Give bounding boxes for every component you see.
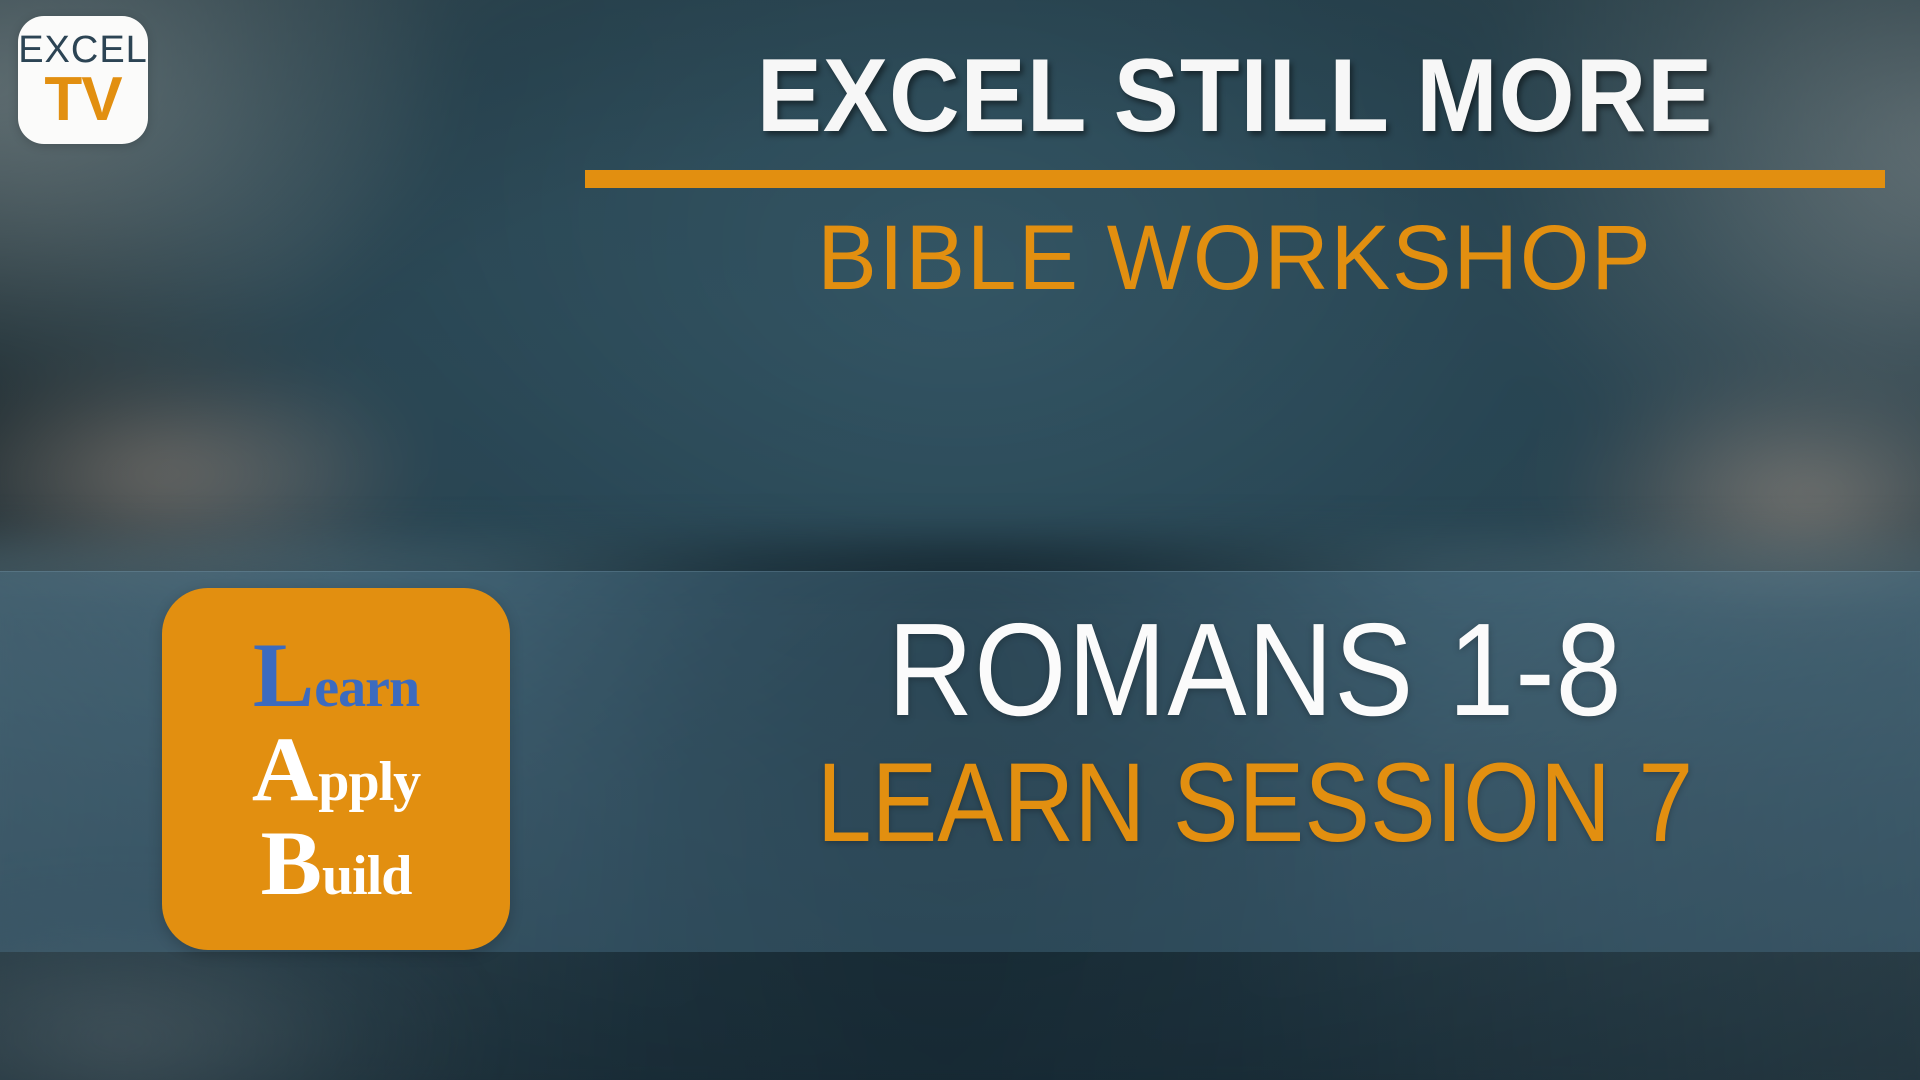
subject-block: ROMANS 1-8 LEARN SESSION 7 (640, 604, 1870, 862)
badge-build-rest: uild (322, 845, 411, 907)
badge-apply-rest: pply (318, 751, 420, 813)
video-thumbnail: EXCEL TV EXCEL STILL MORE BIBLE WORKSHOP… (0, 0, 1920, 1080)
lab-badge: Learn Apply Build (162, 588, 510, 950)
subject-title: ROMANS 1-8 (702, 604, 1809, 736)
badge-learn-rest: earn (314, 657, 419, 719)
excel-tv-logo: EXCEL TV (18, 16, 148, 144)
badge-apply-initial: A (252, 718, 318, 820)
badge-learn-initial: L (253, 624, 314, 726)
logo-excel-text: EXCEL (18, 31, 148, 69)
header-block: EXCEL STILL MORE BIBLE WORKSHOP (585, 44, 1885, 304)
badge-row-build: Build (261, 819, 412, 907)
page-subtitle: BIBLE WORKSHOP (605, 212, 1866, 304)
subject-session-label: LEARN SESSION 7 (714, 744, 1796, 862)
badge-build-initial: B (261, 812, 322, 914)
logo-tv-text: TV (44, 71, 121, 128)
page-title: EXCEL STILL MORE (624, 44, 1846, 148)
badge-row-apply: Apply (252, 725, 420, 813)
badge-row-learn: Learn (253, 631, 419, 719)
orange-divider-bar (585, 170, 1885, 188)
